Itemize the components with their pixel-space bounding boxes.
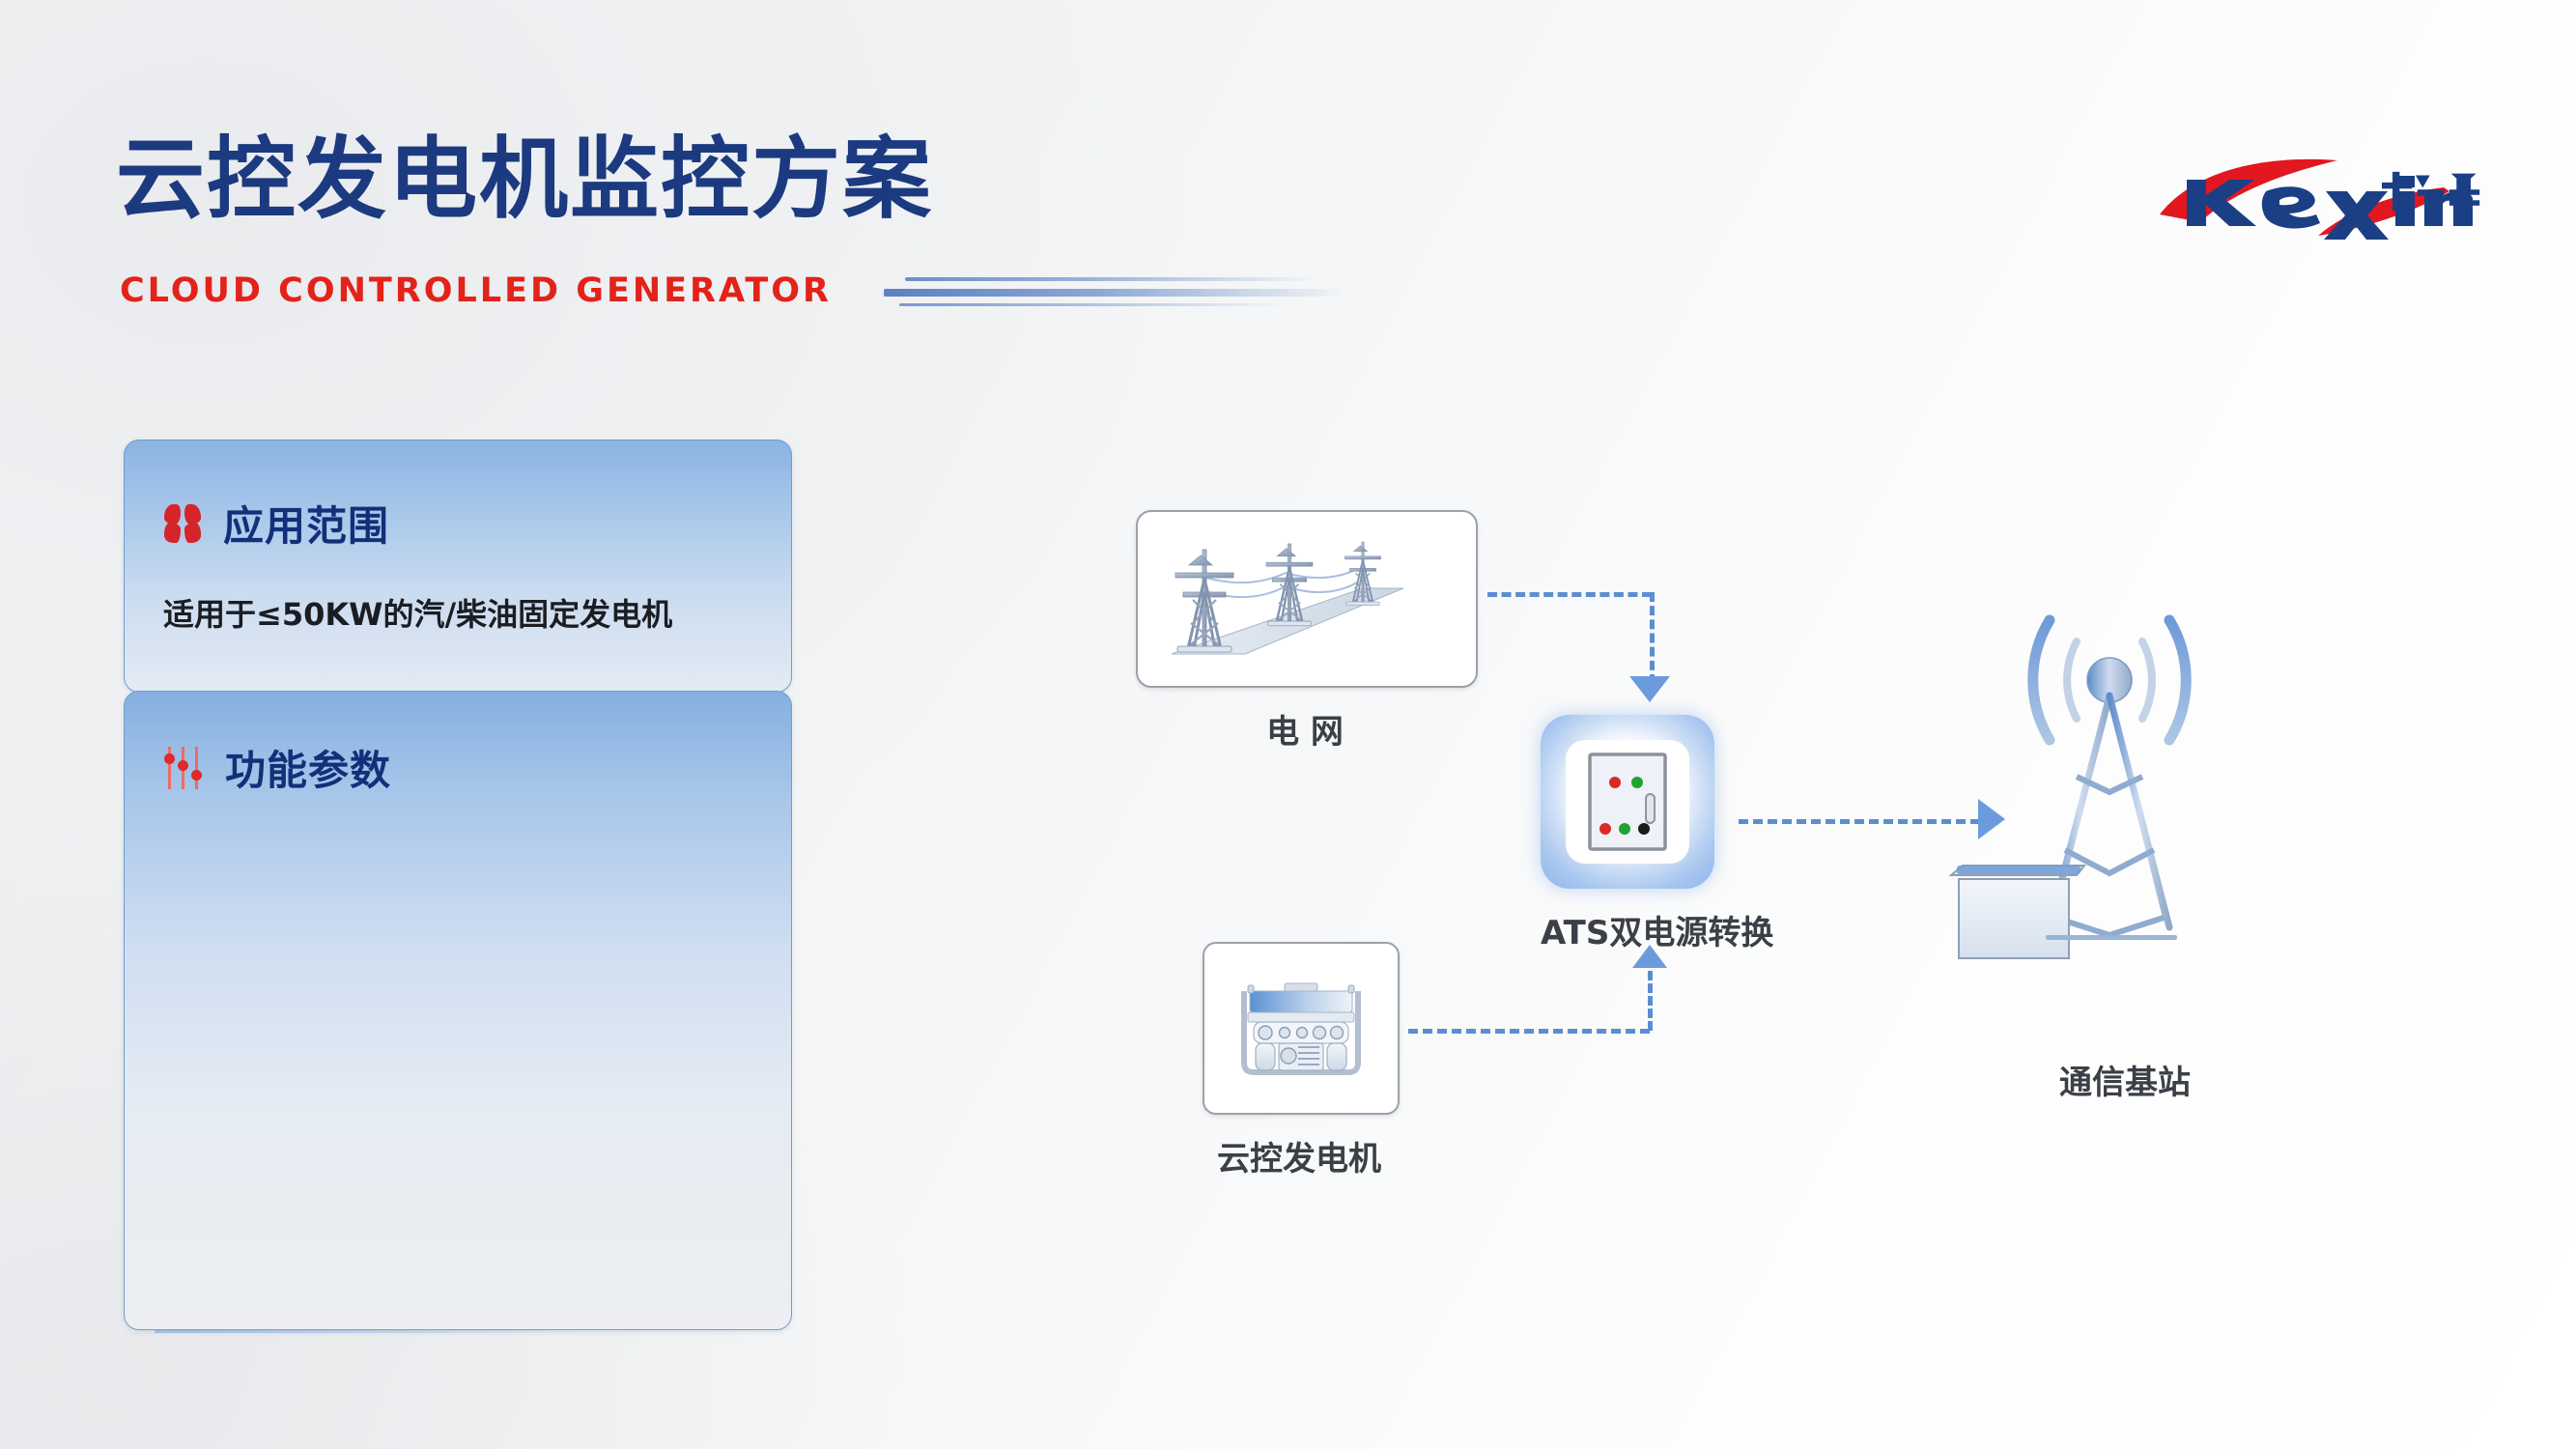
function-parameters-card: 功能参数 xyxy=(124,691,792,1330)
function-card-header: 功能参数 xyxy=(163,738,391,797)
page-subtitle: CLOUD CONTROLLED GENERATOR xyxy=(120,271,832,310)
power-grid-label: 电 网 xyxy=(1136,705,1474,753)
generator-image-frame xyxy=(1203,942,1400,1115)
power-grid-image-frame xyxy=(1136,510,1478,688)
brand-logo xyxy=(2154,155,2482,241)
cell-tower-label: 通信基站 xyxy=(1941,1056,2308,1103)
scope-card-header: 应用范围 xyxy=(163,494,389,553)
slide-canvas: 云控发电机监控方案 CLOUD CONTROLLED GENERATOR xyxy=(0,0,2576,1449)
arrow-up-icon xyxy=(1632,945,1667,968)
page-title: 云控发电机监控方案 xyxy=(116,135,933,224)
function-card-title: 功能参数 xyxy=(225,738,391,797)
subtitle-rule-lines xyxy=(884,277,1386,306)
scope-card-body: 适用于≤50KW的汽/柴油固定发电机 xyxy=(163,590,672,635)
generator-label: 云控发电机 xyxy=(1203,1132,1396,1179)
diagram-node-cell-tower: 通信基站 xyxy=(1941,599,2308,1103)
sliders-icon xyxy=(163,747,204,789)
arrow-right-icon xyxy=(1978,799,2005,839)
scope-card-title: 应用范围 xyxy=(223,494,389,553)
ats-inner-frame xyxy=(1566,740,1689,864)
diagram-node-ats: ATS双电源转换 xyxy=(1541,715,1714,953)
diagram-node-generator: 云控发电机 xyxy=(1203,942,1396,1179)
ats-glow-frame xyxy=(1541,715,1714,889)
ats-panel-icon xyxy=(1586,752,1669,852)
clover-icon xyxy=(163,504,202,543)
ats-label: ATS双电源转换 xyxy=(1541,906,1714,953)
application-scope-card: 应用范围 适用于≤50KW的汽/柴油固定发电机 xyxy=(124,440,792,693)
diagram-node-power-grid: 电 网 xyxy=(1136,510,1474,753)
power-pylons-icon xyxy=(1162,526,1452,671)
arrow-down-icon xyxy=(1629,676,1670,702)
generator-icon xyxy=(1229,966,1373,1092)
